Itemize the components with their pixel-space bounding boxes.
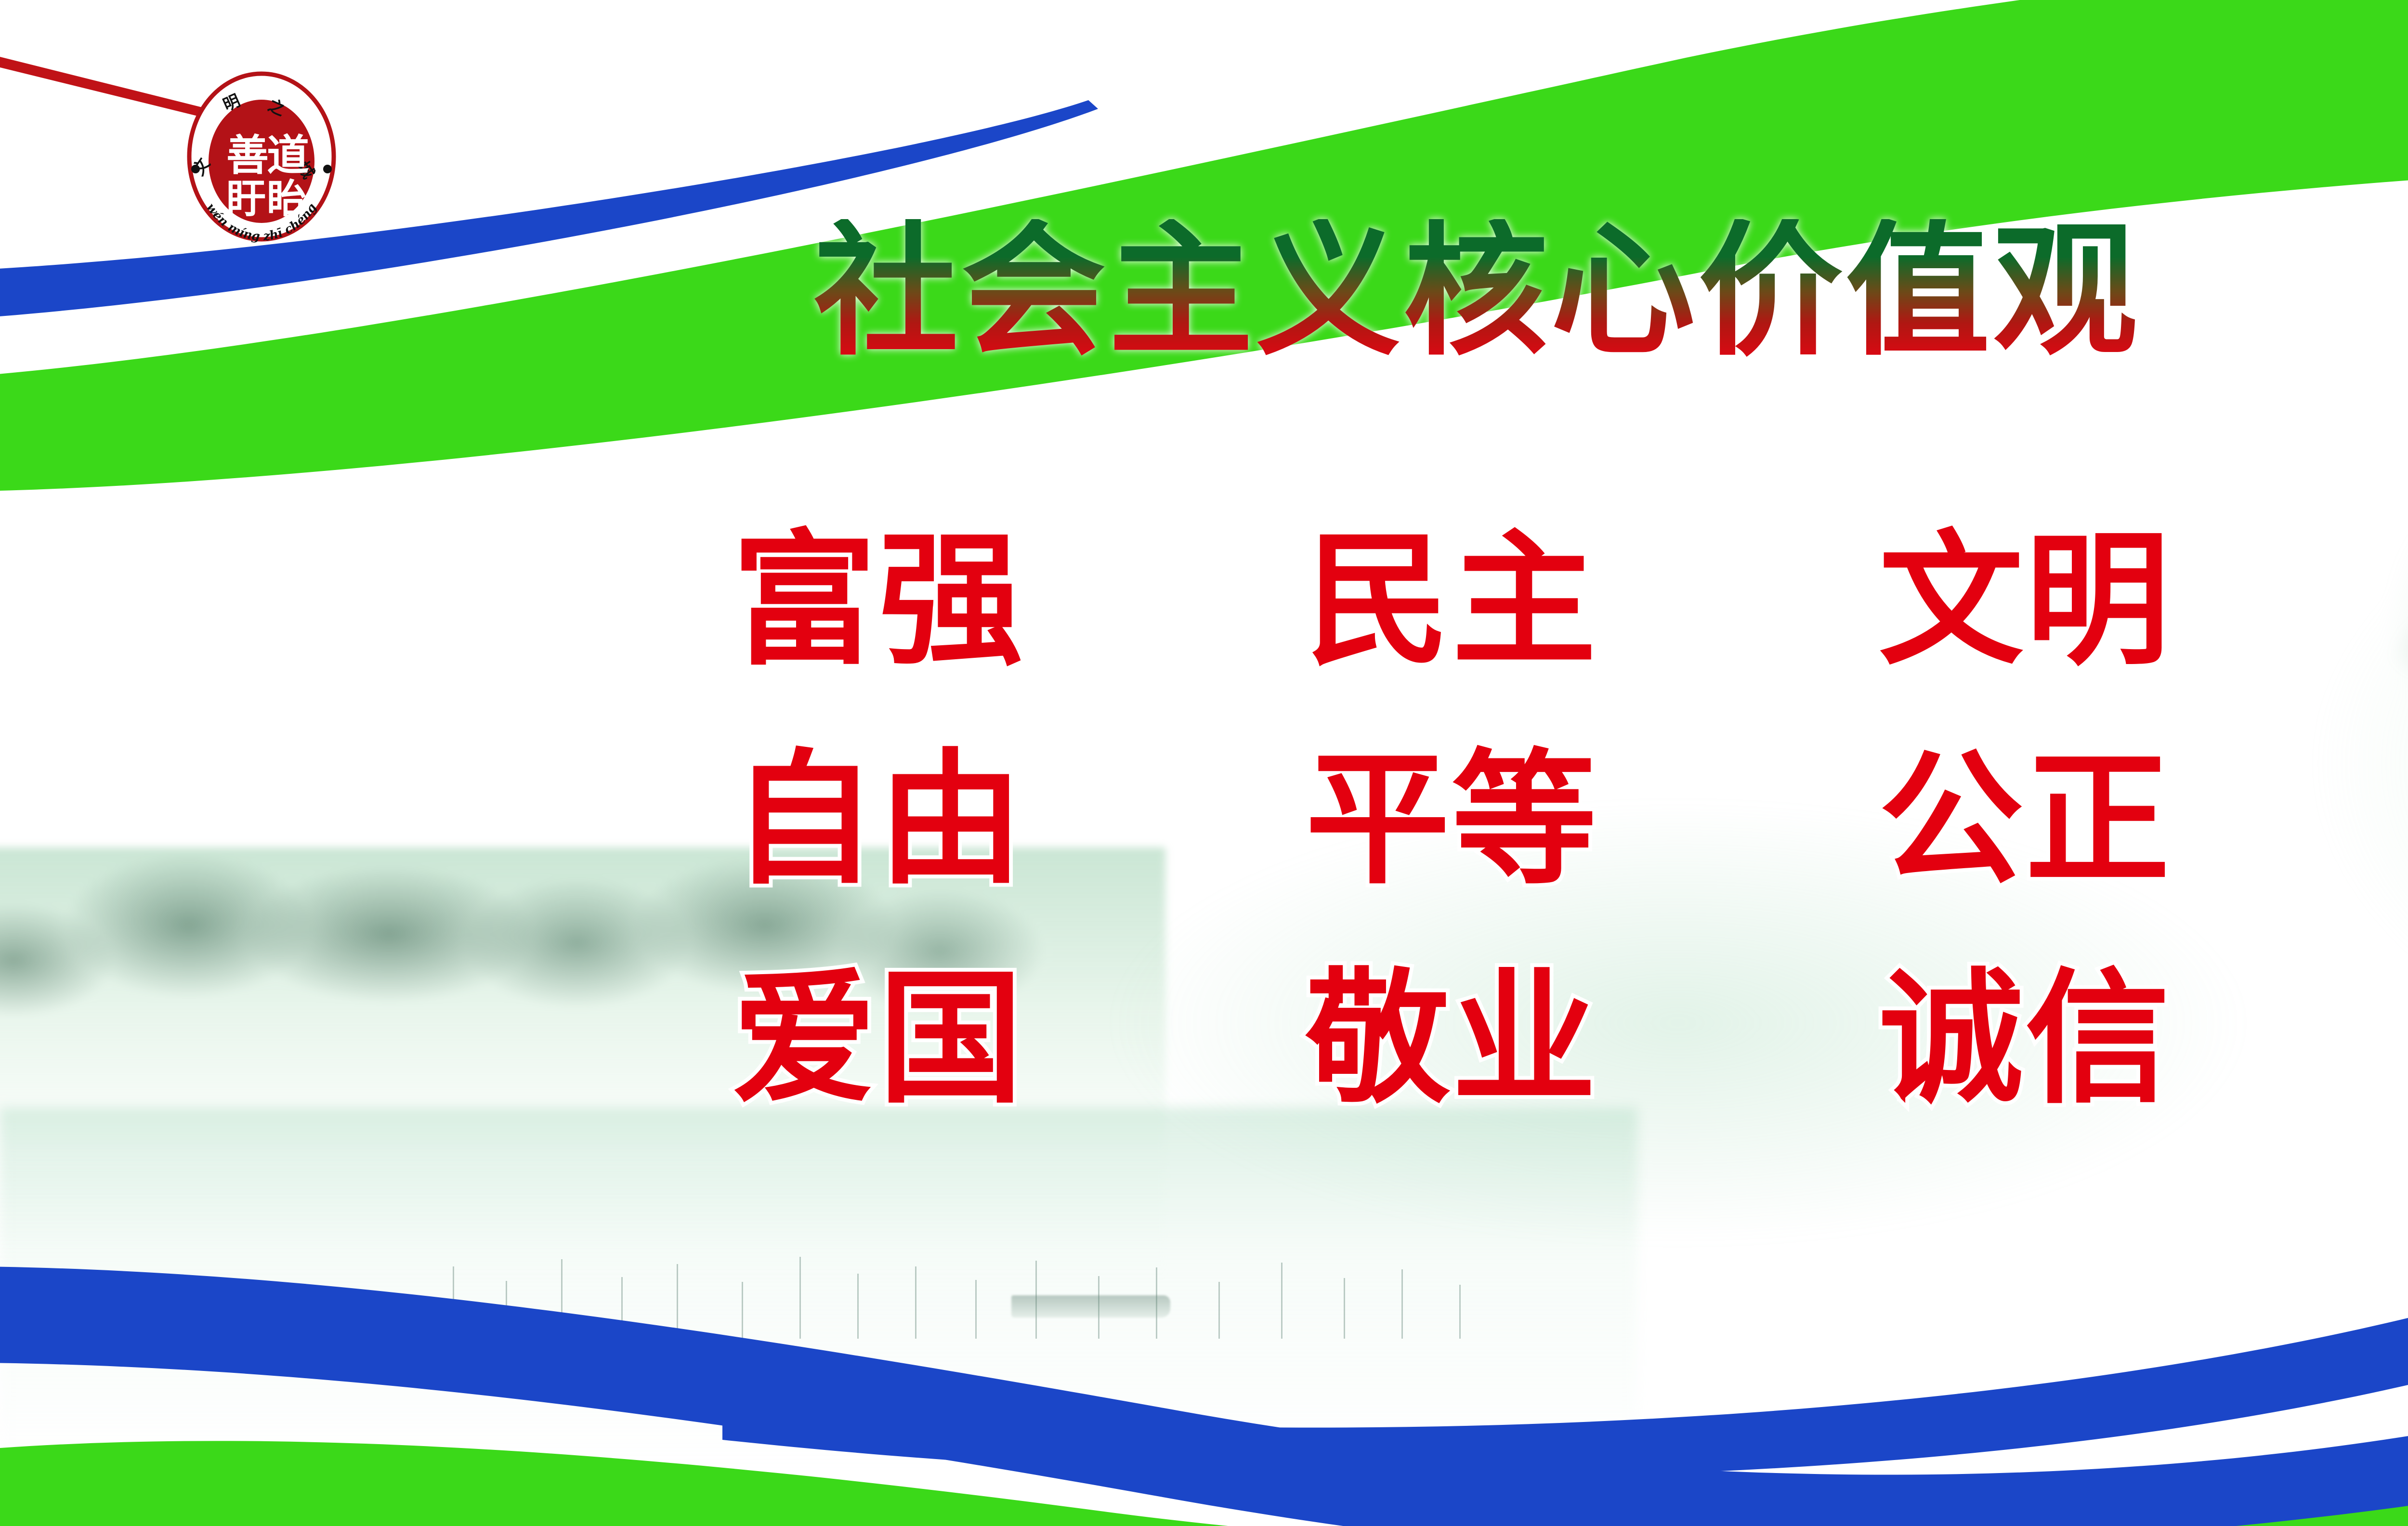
page-title: 社会主义核心价值观: [814, 219, 2140, 364]
core-values-row-3: 爱国 敬业 诚信 友善: [732, 929, 2408, 1148]
core-values-row-1: 富强 民主 文明 和谐: [732, 491, 2408, 710]
core-value-word: 民主: [1306, 529, 1598, 673]
core-values-list: 富强 民主 文明 和谐 自由 平等 公正 法治 爱国 敬业 诚信 友善: [732, 491, 2408, 1148]
core-value-word: 文明: [1879, 529, 2172, 673]
seal-dot-right: [323, 165, 332, 173]
core-value-word: 爱国: [732, 967, 1025, 1111]
core-value-word: 富强: [732, 529, 1025, 673]
core-value-word: 诚信: [1879, 967, 2172, 1111]
logo-seal: 文 明 之 城 善 道 盱 眙 wén míng zhī chéng: [182, 70, 341, 243]
core-value-word: 公正: [1879, 748, 2172, 892]
seal-center-shan: 善: [226, 130, 269, 180]
core-value-word: 敬业: [1306, 967, 1598, 1111]
core-value-word: 平等: [1306, 748, 1598, 892]
seal-center-dao: 道: [267, 130, 309, 180]
seal-center-xu: 盱: [226, 176, 266, 222]
core-values-row-2: 自由 平等 公正 法治: [732, 710, 2408, 929]
core-value-word: 自由: [732, 748, 1025, 892]
propaganda-board: 文 明 之 城 善 道 盱 眙 wén míng zhī chéng 社会主义核…: [0, 0, 2408, 1526]
